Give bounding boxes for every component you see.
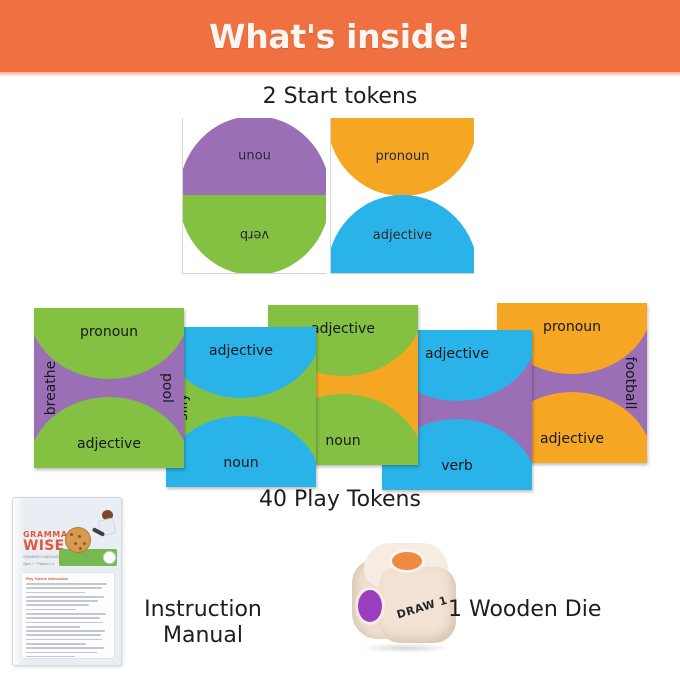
start-token-2-bottom-shape: adjective <box>330 195 474 274</box>
play-token-card-1[interactable]: pronoun adjective breathe pool <box>34 308 184 468</box>
manual-text-line <box>26 617 100 619</box>
manual-text-line <box>26 596 104 598</box>
soccer-ball-icon <box>103 551 116 564</box>
manual-text-line <box>26 634 101 636</box>
cookie-ball-icon <box>65 527 91 553</box>
manual-illustration <box>59 506 117 566</box>
play-token-1-left-slot: breathe <box>34 308 68 468</box>
start-tokens-caption: 2 Start tokens <box>0 84 680 109</box>
manual-text-line <box>26 622 103 624</box>
kid-character-icon <box>93 510 115 540</box>
start-token-1-top-label: noun <box>238 149 271 164</box>
start-token-1-top-shape: noun <box>182 118 326 196</box>
manual-text-line <box>26 583 107 585</box>
start-token-2-bottom-label: adjective <box>373 228 432 243</box>
play-token-1-right-slot: pool <box>150 308 184 468</box>
manual-body-heading: Play Tokens Instructions <box>26 577 110 581</box>
manual-text-line <box>26 604 89 606</box>
manual-text-line <box>26 609 76 611</box>
page-title: What's inside! <box>209 17 471 56</box>
play-token-card-2[interactable]: adjective noun silly <box>166 327 316 487</box>
manual-text-line <box>26 587 102 589</box>
manual-text-line <box>26 626 80 628</box>
manual-text-line <box>26 630 105 632</box>
start-token-1-bottom-shape: verb <box>182 195 326 274</box>
die-orange-dot-icon <box>392 552 422 570</box>
play-token-5-right-slot: football <box>613 303 647 463</box>
manual-cover-hero: GRAMMAR WISE GRAMMAR LANGUAGE Ages 7 + P… <box>21 506 115 568</box>
play-token-1-left-label: breathe <box>43 361 59 416</box>
manual-text-line <box>26 639 102 641</box>
instruction-manual-caption: Instruction Manual <box>128 597 278 648</box>
manual-text-line <box>26 600 98 602</box>
header-shadow <box>0 72 680 77</box>
play-token-1-right-label: pool <box>159 373 175 403</box>
instruction-manual-booklet[interactable]: GRAMMAR WISE GRAMMAR LANGUAGE Ages 7 + P… <box>12 497 122 666</box>
wooden-die[interactable]: DRAW 1 <box>352 543 460 651</box>
product-contents-infographic: What's inside! 2 Start tokens noun verb … <box>0 0 680 680</box>
header-banner: What's inside! <box>0 0 680 72</box>
manual-text-line <box>26 652 97 654</box>
manual-gloss-overlay <box>13 498 25 665</box>
start-token-2-top-label: pronoun <box>376 149 430 164</box>
manual-page: GRAMMAR WISE GRAMMAR LANGUAGE Ages 7 + P… <box>21 506 115 659</box>
start-token-2-top-shape: pronoun <box>330 118 474 196</box>
play-token-5-right-label: football <box>622 357 638 410</box>
die-drop-shadow <box>360 643 452 653</box>
start-token-card-1[interactable]: noun verb <box>182 118 326 274</box>
wooden-die-caption: 1 Wooden Die <box>448 597 668 622</box>
manual-text-line <box>26 656 75 658</box>
manual-text-line <box>26 643 86 645</box>
manual-text-line <box>26 647 104 649</box>
manual-text-line <box>26 613 106 615</box>
manual-text-block: Play Tokens Instructions <box>21 572 115 659</box>
manual-text-line <box>26 592 85 594</box>
die-purple-dot-icon <box>358 590 382 622</box>
start-token-1-bottom-label: verb <box>240 228 269 243</box>
start-token-card-2[interactable]: pronoun adjective <box>330 118 474 274</box>
